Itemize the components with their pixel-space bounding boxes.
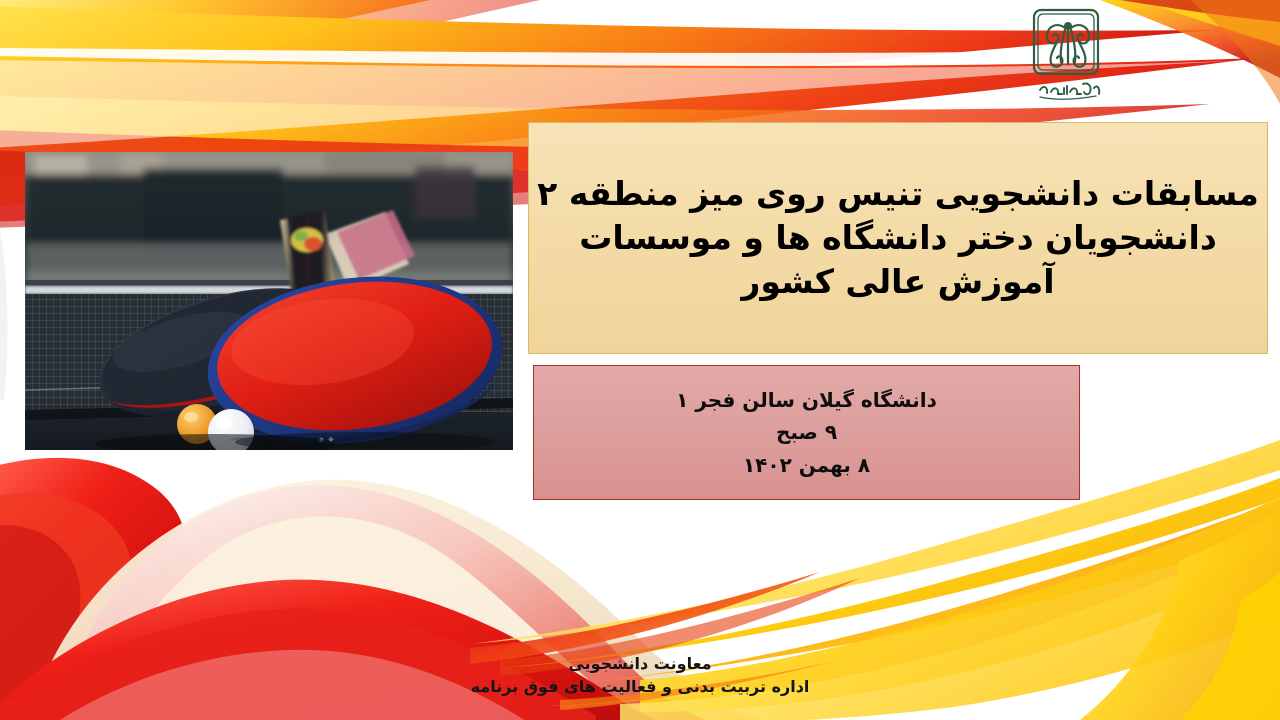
venue-details-card: دانشگاه گیلان سالن فجر ۱ ۹ صبح ۸ بهمن ۱۴…: [533, 365, 1080, 500]
footer-line-1: معاونت دانشجویی: [0, 652, 1280, 675]
title-line-3: آموزش عالی کشور: [537, 260, 1259, 304]
footer-line-2: اداره تربیت بدنی و فعالیت های فوق برنامه: [0, 675, 1280, 698]
venue-date: ۸ بهمن ۱۴۰۲: [676, 449, 937, 481]
event-title: مسابقات دانشجویی تنیس روی میز منطقه ۲ دا…: [523, 172, 1273, 304]
university-of-guilan-logo: [1018, 4, 1118, 108]
venue-details: دانشگاه گیلان سالن فجر ۱ ۹ صبح ۸ بهمن ۱۴…: [676, 384, 937, 481]
title-line-2: دانشجویان دختر دانشگاه ها و موسسات: [537, 216, 1259, 260]
event-title-card: مسابقات دانشجویی تنیس روی میز منطقه ۲ دا…: [528, 122, 1268, 354]
venue-place: دانشگاه گیلان سالن فجر ۱: [676, 384, 937, 416]
venue-time: ۹ صبح: [676, 416, 937, 448]
table-tennis-photo: Butterfly ◆ ◆: [25, 152, 513, 450]
footer-organizer: معاونت دانشجویی اداره تربیت بدنی و فعالی…: [0, 652, 1280, 698]
poster-canvas: Butterfly ◆ ◆: [0, 0, 1280, 720]
title-line-1: مسابقات دانشجویی تنیس روی میز منطقه ۲: [537, 172, 1259, 216]
